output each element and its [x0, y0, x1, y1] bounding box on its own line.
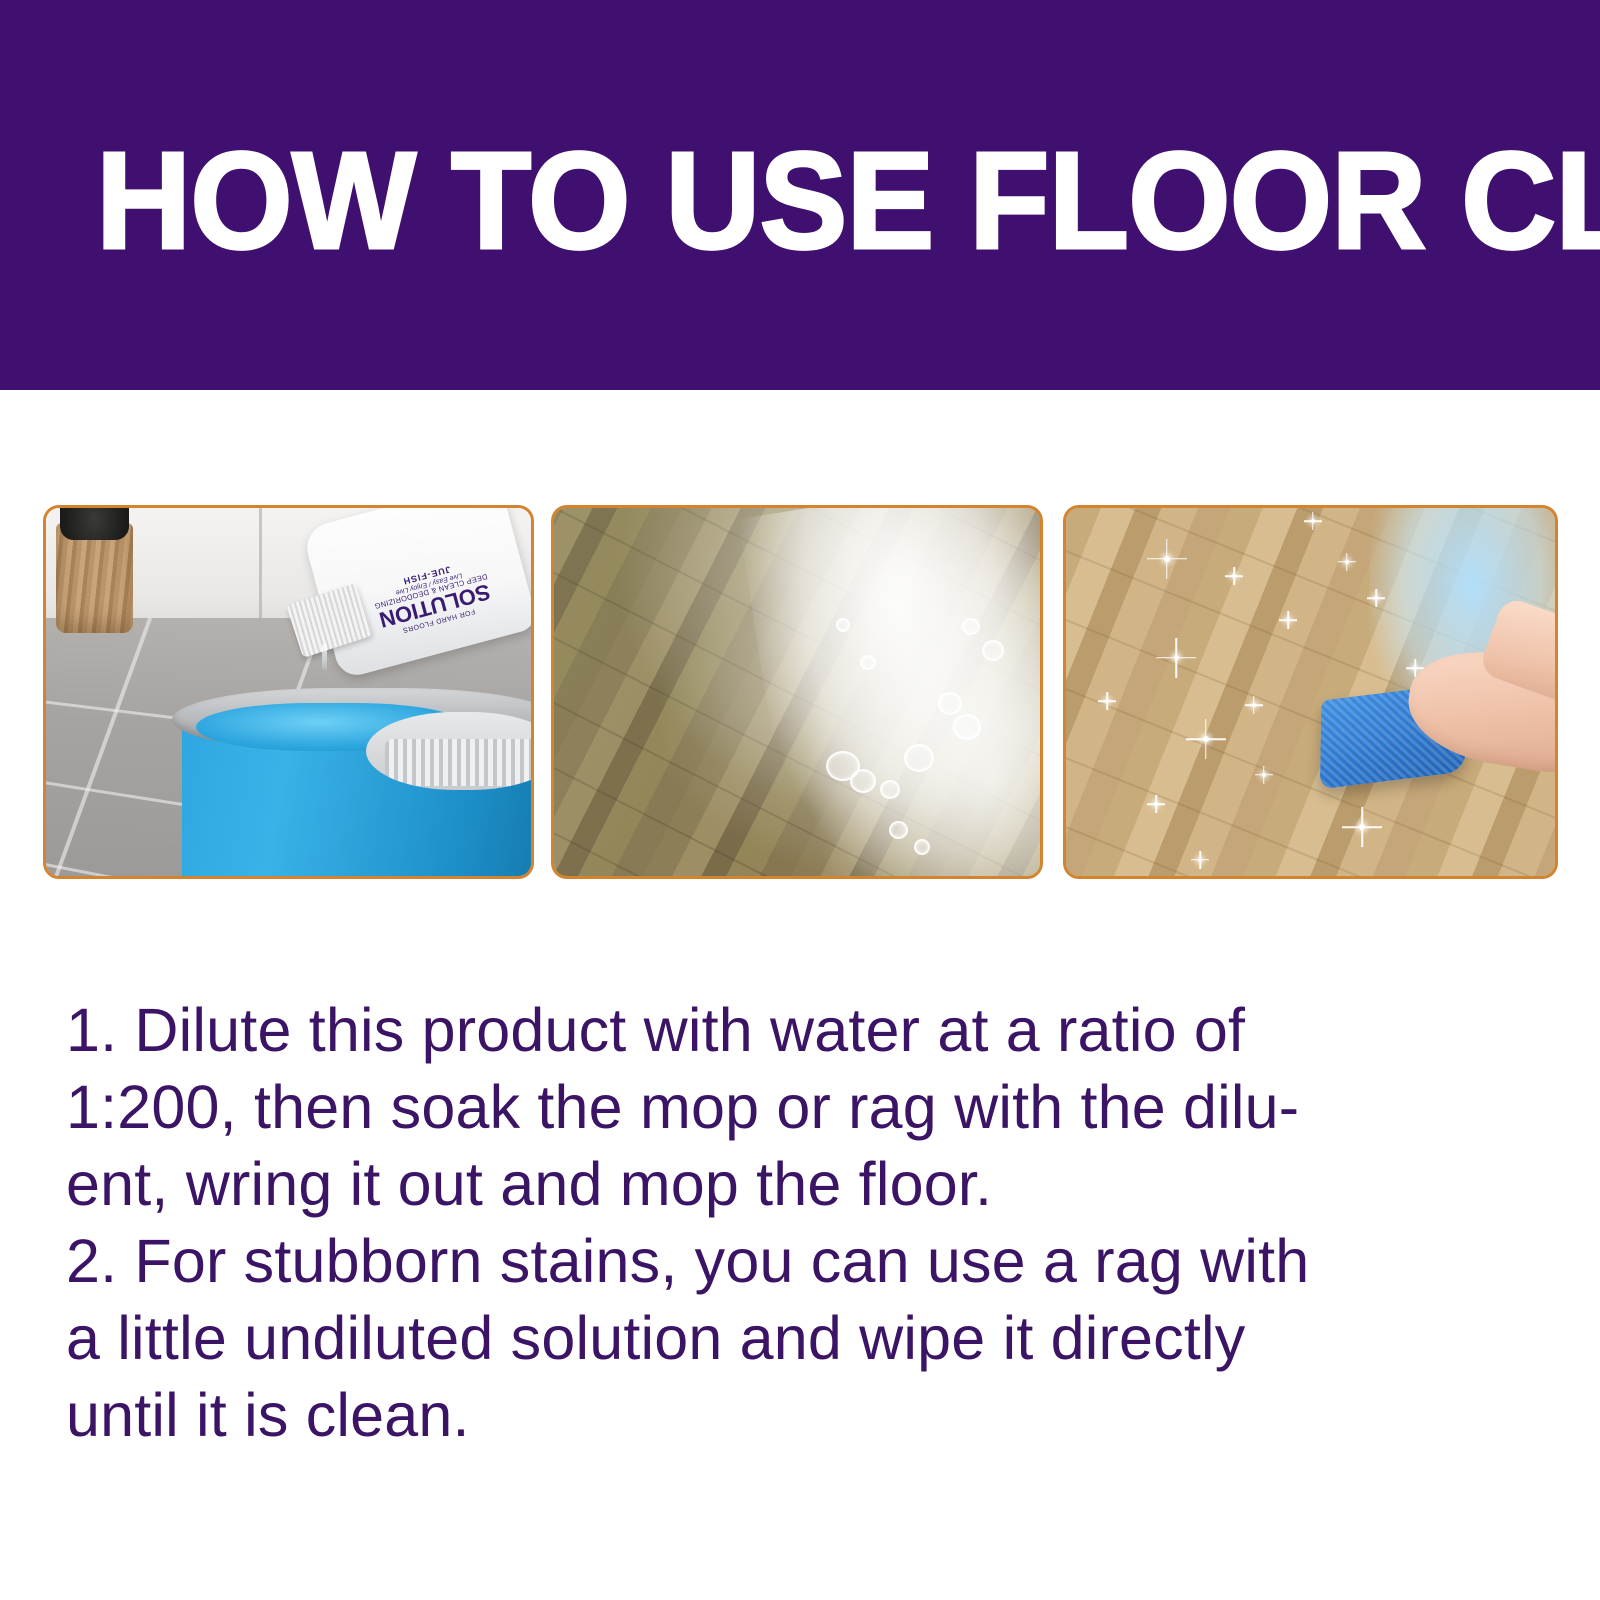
- instruction-line: a little undiluted solution and wipe it …: [66, 1300, 1536, 1377]
- bubble: [904, 744, 934, 772]
- photo-card-wipe-with-cloth[interactable]: [1063, 505, 1558, 879]
- grout-line: [46, 617, 152, 876]
- foam-floor-scene: [554, 508, 1040, 876]
- sparkle-icon: [1198, 858, 1202, 862]
- sparkle-icon: [1252, 703, 1256, 707]
- photo-card-soapy-foam-on-floor[interactable]: [551, 505, 1043, 879]
- bathroom-scene: FOR HARD FLOORS SOLUTION DEEP CLEAN & DE…: [46, 508, 531, 876]
- sparkle-icon: [1345, 560, 1349, 564]
- instructions-block: 1. Dilute this product with water at a r…: [66, 992, 1536, 1454]
- instruction-line: until it is clean.: [66, 1377, 1536, 1454]
- photo-wipe-with-cloth-image: [1066, 508, 1555, 876]
- instruction-line: ent, wring it out and mop the floor.: [66, 1146, 1536, 1223]
- bubble: [953, 714, 981, 740]
- wicker-basket: [56, 523, 134, 633]
- bubble: [938, 692, 962, 715]
- photo-strip: FOR HARD FLOORS SOLUTION DEEP CLEAN & DE…: [0, 505, 1600, 885]
- header-band: HOW TO USE FLOOR CLEANER: [0, 0, 1600, 390]
- clean-floor-scene: [1066, 508, 1555, 876]
- page-title: HOW TO USE FLOOR CLEANER: [96, 131, 1452, 271]
- sparkle-icon: [1262, 773, 1266, 777]
- spin-basket: [366, 712, 531, 789]
- instruction-line: 2. For stubborn stains, you can use a ra…: [66, 1223, 1536, 1300]
- photo-pour-into-bucket-image: FOR HARD FLOORS SOLUTION DEEP CLEAN & DE…: [46, 508, 531, 876]
- photo-card-pour-into-bucket[interactable]: FOR HARD FLOORS SOLUTION DEEP CLEAN & DE…: [43, 505, 534, 879]
- photo-soapy-foam-image: [554, 508, 1040, 876]
- instruction-line: 1. Dilute this product with water at a r…: [66, 992, 1536, 1069]
- bubble: [880, 780, 900, 799]
- bubble: [914, 839, 930, 855]
- instruction-line: 1:200, then soak the mop or rag with the…: [66, 1069, 1536, 1146]
- liquid-drip: [322, 644, 327, 670]
- sparkle-icon: [1311, 519, 1315, 523]
- sparkle-icon: [1174, 655, 1179, 660]
- bubble: [889, 821, 908, 839]
- sparkle-icon: [1164, 556, 1170, 562]
